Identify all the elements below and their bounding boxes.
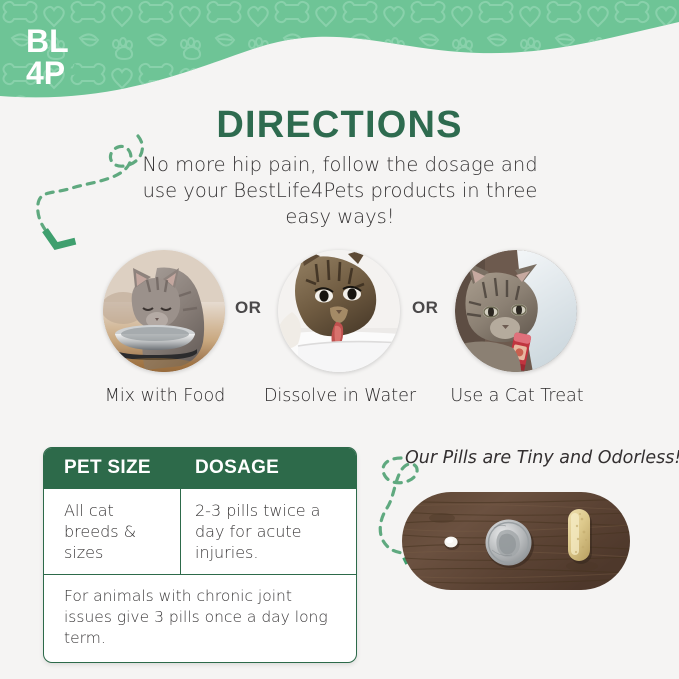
method-mix-with-food: Mix with Food <box>103 250 227 406</box>
table-header-dosage: DOSAGE <box>181 457 356 479</box>
brand-logo: BL 4P <box>26 22 86 90</box>
dosage-table: PET SIZE DOSAGE All cat breeds & sizes 2… <box>43 447 357 663</box>
logo-text-4p: 4P <box>26 55 65 90</box>
table-row: All cat breeds & sizes 2-3 pills twice a… <box>44 488 356 574</box>
or-separator-2: OR <box>412 298 438 318</box>
pills-headline: Our Pills are Tiny and Odorless! <box>405 448 679 468</box>
method-dissolve-in-water: Dissolve in Water <box>278 250 402 406</box>
table-cell-pet-size: All cat breeds & sizes <box>44 489 181 574</box>
paw-print-icon <box>66 62 76 75</box>
cat-eating-from-bowl-photo <box>103 250 225 372</box>
table-note: For animals with chronic joint issues gi… <box>44 574 356 662</box>
method-caption: Mix with Food <box>75 386 255 406</box>
method-use-a-cat-treat: Use a Cat Treat <box>455 250 579 406</box>
cat-licking-water-photo <box>278 250 400 372</box>
or-separator-1: OR <box>235 298 261 318</box>
table-header-row: PET SIZE DOSAGE <box>44 448 356 488</box>
method-caption: Use a Cat Treat <box>427 386 607 406</box>
large-tan-capsule <box>568 509 592 564</box>
page-title: DIRECTIONS <box>0 104 679 147</box>
wooden-board-photo <box>402 492 630 590</box>
dashed-curved-arrow-down-left-icon <box>20 128 150 268</box>
page-subtitle: No more hip pain, follow the dosage and … <box>140 152 540 230</box>
logo-text-bl: BL <box>26 23 69 59</box>
table-cell-dosage: 2-3 pills twice a day for acute injuries… <box>181 489 356 574</box>
cat-with-treat-photo <box>455 250 577 372</box>
table-header-pet-size: PET SIZE <box>44 457 181 479</box>
method-caption: Dissolve in Water <box>250 386 430 406</box>
